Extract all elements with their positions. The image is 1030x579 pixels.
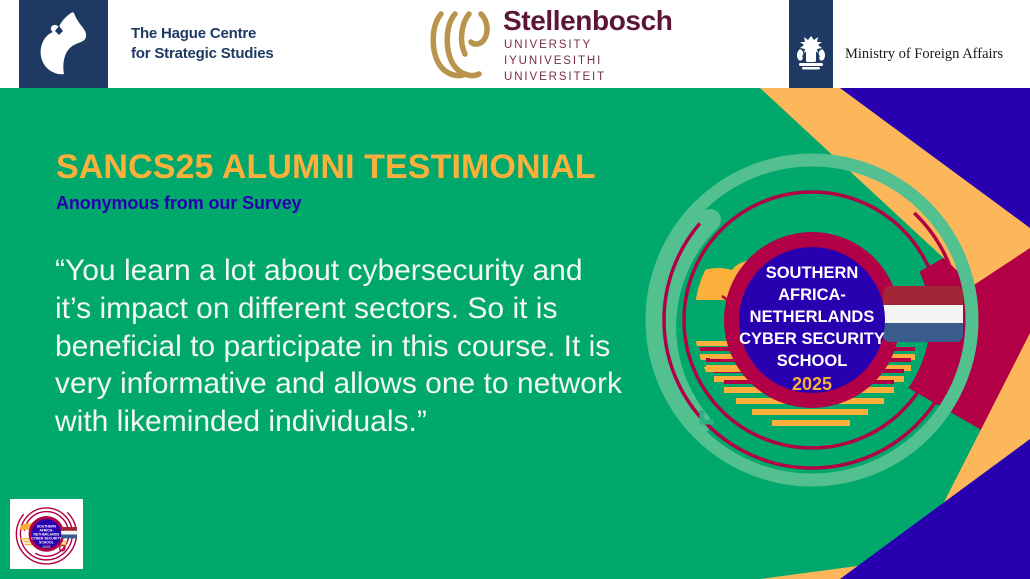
page-title: SANCS25 ALUMNI TESTIMONIAL — [56, 148, 596, 187]
stellenbosch-sub-2: IYUNIVESITHI — [504, 54, 606, 70]
mini-badge-line-2: AFRICA- — [39, 528, 53, 532]
badge-line-5: SCHOOL — [777, 352, 848, 370]
stellenbosch-subtitle: UNIVERSITY IYUNIVESITHI UNIVERSITEIT — [504, 38, 606, 86]
badge-year: 2025 — [792, 374, 832, 394]
badge-line-4: CYBER SECURITY — [739, 330, 885, 348]
mini-badge-year: 2025 — [42, 545, 50, 549]
netherlands-flag-icon — [883, 286, 963, 342]
hcss-line-1: The Hague Centre — [131, 24, 274, 44]
hcss-wordmark: The Hague Centre for Strategic Studies — [131, 24, 274, 65]
mini-badge-line-5: SCHOOL — [39, 541, 54, 545]
sancs-badge-graphic: SOUTHERN AFRICA- NETHERLANDS CYBER SECUR… — [640, 148, 985, 493]
hcss-horse-knight-logo — [19, 0, 108, 88]
mini-badge-graphic: SOUTHERN AFRICA- NETHERLANDS CYBER SECUR… — [10, 499, 83, 569]
mini-badge-line-1: SOUTHERN — [37, 524, 57, 528]
ministry-label: Ministry of Foreign Affairs — [845, 46, 1003, 63]
badge-line-3: NETHERLANDS — [750, 308, 875, 326]
hcss-horse-knight-icon — [19, 0, 108, 88]
badge-line-2: AFRICA- — [778, 286, 846, 304]
netherlands-coat-of-arms — [789, 0, 833, 88]
netherlands-coat-of-arms-icon — [789, 0, 833, 88]
badge-line-1: SOUTHERN — [766, 264, 859, 282]
stellenbosch-title: Stellenbosch — [503, 5, 672, 37]
mini-badge-line-4: CYBER SECURITY — [31, 537, 62, 541]
sancs-badge-mini-logo: SOUTHERN AFRICA- NETHERLANDS CYBER SECUR… — [10, 499, 83, 569]
stellenbosch-sub-3: UNIVERSITEIT — [504, 70, 606, 86]
stellenbosch-sub-1: UNIVERSITY — [504, 38, 606, 54]
hcss-line-2: for Strategic Studies — [131, 44, 274, 64]
slide-canvas: SOUTHERN AFRICA- NETHERLANDS CYBER SECUR… — [0, 0, 1030, 579]
testimonial-quote: “You learn a lot about cybersecurity and… — [55, 252, 625, 441]
stellenbosch-flame-mark — [425, 6, 497, 82]
page-subtitle: Anonymous from our Survey — [56, 193, 302, 214]
mini-badge-line-3: NETHERLANDS — [33, 533, 60, 537]
partner-logo-header: The Hague Centre for Strategic Studies S… — [0, 0, 1030, 88]
